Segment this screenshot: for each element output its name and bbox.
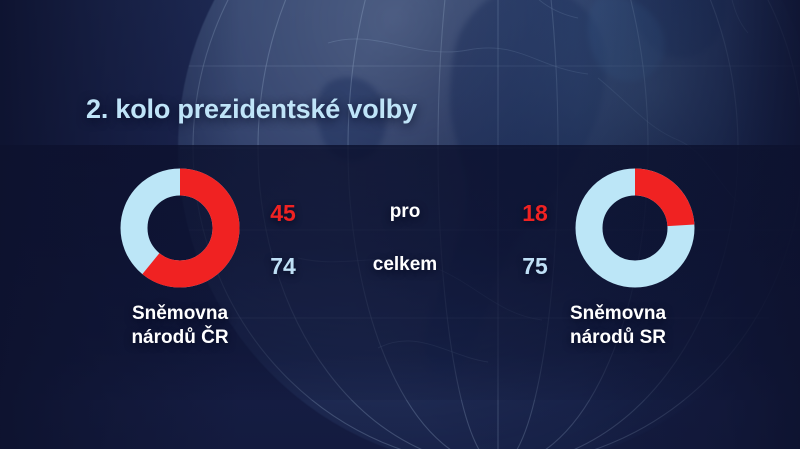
legend-labels: pro celkem xyxy=(335,202,475,274)
chart-label-sk-line2: národů SR xyxy=(468,326,768,350)
donut-chart-cz xyxy=(120,168,240,288)
chart-label-cz: Sněmovna národů ČR xyxy=(30,302,330,351)
donut-chart-sk xyxy=(575,168,695,288)
legend-label-total: celkem xyxy=(335,255,475,274)
broadcast-graphic: 2. kolo prezidentské volby Sněmovna náro… xyxy=(0,0,800,449)
chart-label-cz-line1: Sněmovna xyxy=(30,302,330,326)
page-title: 2. kolo prezidentské volby xyxy=(86,94,417,125)
total-value-cz: 74 xyxy=(248,255,318,278)
results-panel: Sněmovna národů ČR 45 74 pro celkem 18 7… xyxy=(0,150,800,380)
chart-label-sk-line1: Sněmovna xyxy=(468,302,768,326)
values-column-cz: 45 74 xyxy=(248,202,318,278)
chart-block-sk: Sněmovna národů SR xyxy=(490,150,790,380)
chart-label-cz-line2: národů ČR xyxy=(30,326,330,350)
for-value-cz: 45 xyxy=(248,202,318,225)
legend-label-for: pro xyxy=(335,202,475,221)
chart-label-sk: Sněmovna národů SR xyxy=(468,302,768,351)
